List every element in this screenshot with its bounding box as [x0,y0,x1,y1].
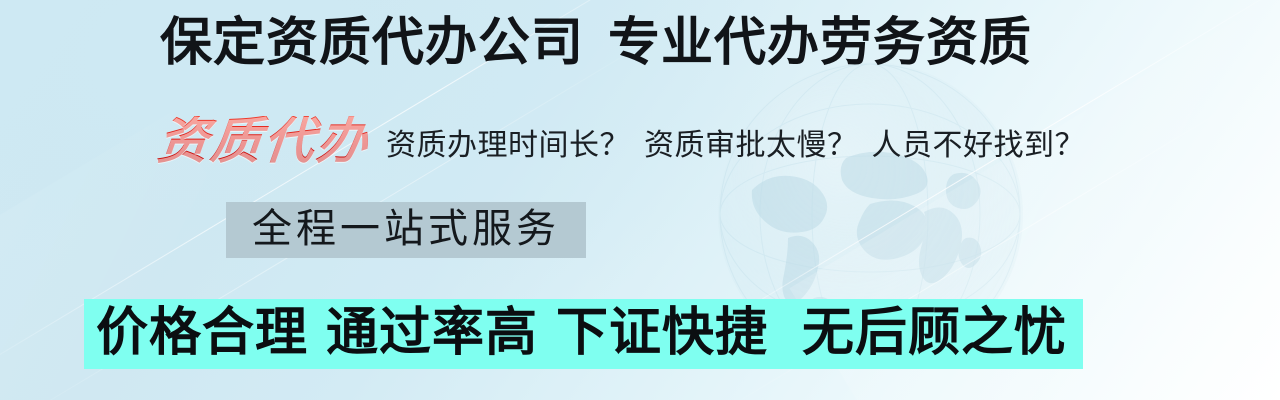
benefit-2: 通过率高 [326,304,538,362]
benefits-highlight-band: 价格合理通过率高下证快捷无后顾之忧 [84,299,1083,369]
seal-stamp-text: 资质代办 [155,116,388,166]
question-3: 人员不好找到？ [872,129,1086,162]
question-1: 资质办理时间长？ [386,129,630,162]
question-list: 资质办理时间长？资质审批太慢？人员不好找到？ [386,131,1085,161]
service-text: 全程一站式服务 [252,206,560,251]
question-2: 资质审批太慢？ [644,129,858,162]
pain-points-row: 资质代办 资质办理时间长？资质审批太慢？人员不好找到？ [158,116,1085,166]
benefit-1: 价格合理 [96,304,308,362]
benefit-3: 下证快捷 [556,304,768,362]
title-part-2: 专业代办劳务资质 [608,14,1032,72]
service-highlight-band: 全程一站式服务 [226,202,586,258]
benefits-text: 价格合理通过率高下证快捷无后顾之忧 [96,304,1067,362]
title-part-1: 保定资质代办公司 [160,14,584,72]
promotional-banner: 保定资质代办公司专业代办劳务资质 资质代办 资质办理时间长？资质审批太慢？人员不… [0,0,1280,400]
benefit-4: 无后顾之忧 [802,304,1067,362]
page-title: 保定资质代办公司专业代办劳务资质 [160,17,1032,69]
